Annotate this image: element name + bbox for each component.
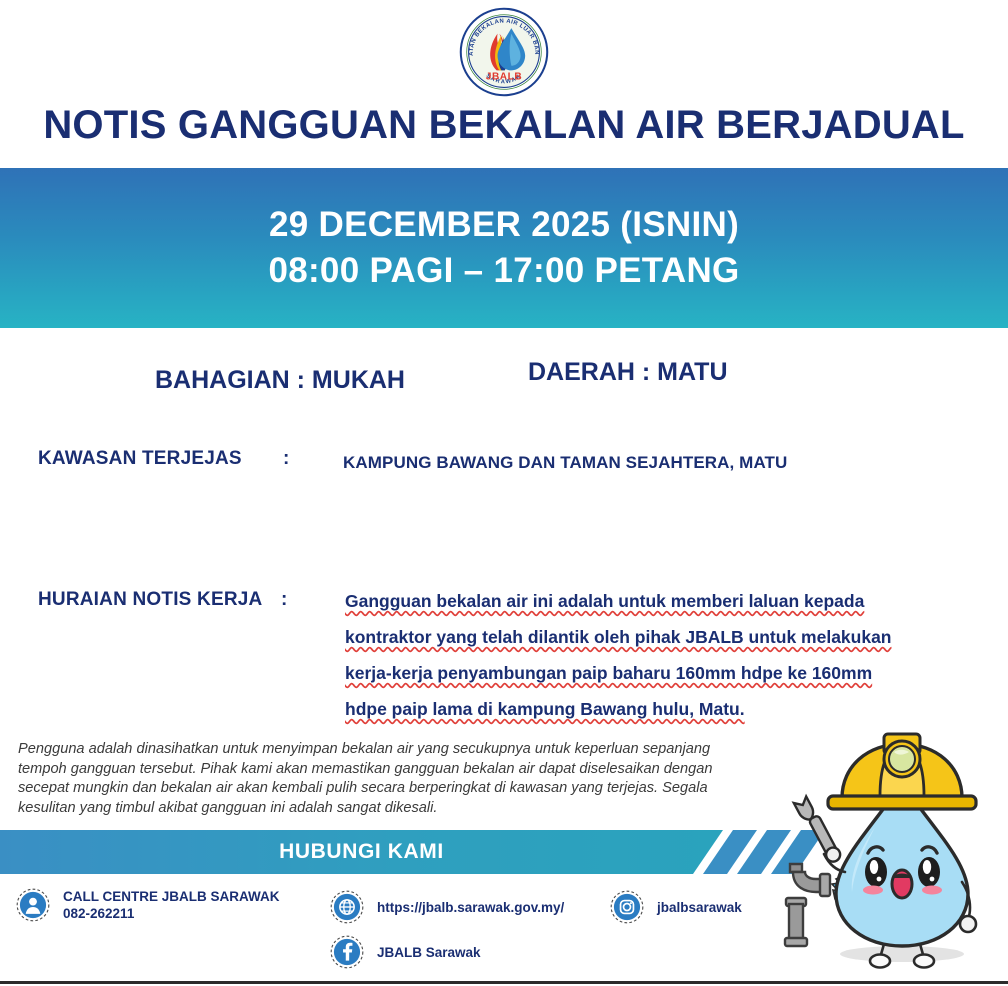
- affected-area-colon: :: [283, 448, 289, 470]
- date-time-banner: 29 DECEMBER 2025 (ISNIN) 08:00 PAGI – 17…: [0, 168, 1008, 328]
- notice-poster: JABATAN BEKALAN AIR LUAR BANDAR SARAWAK …: [0, 0, 1008, 986]
- work-description-line-text: kontraktor yang telah dilantik oleh piha…: [345, 627, 892, 647]
- work-description-line: Gangguan bekalan air ini adalah untuk me…: [345, 583, 905, 619]
- work-description-line: kontraktor yang telah dilantik oleh piha…: [345, 619, 905, 655]
- contact-call-centre[interactable]: CALL CENTRE JBALB SARAWAK 082-262211: [16, 888, 280, 922]
- contact-call-centre-line1: CALL CENTRE JBALB SARAWAK: [63, 888, 280, 905]
- work-description-line-text: hdpe paip lama di kampung Bawang hulu, M…: [345, 699, 745, 719]
- work-description-label: HURAIAN NOTIS KERJA: [38, 589, 262, 611]
- person-icon: [16, 888, 50, 922]
- advisory-paragraph: Pengguna adalah dinasihatkan untuk menyi…: [18, 740, 723, 818]
- hard-hat-icon: [828, 734, 976, 809]
- daerah-label: DAERAH : MATU: [528, 358, 728, 387]
- mascot-illustration: [772, 732, 1008, 972]
- notice-date: 29 DECEMBER 2025 (ISNIN): [269, 202, 739, 248]
- contact-call-centre-line2: 082-262211: [63, 905, 280, 922]
- contact-instagram[interactable]: jbalbsarawak: [610, 890, 742, 924]
- contact-facebook-text: JBALB Sarawak: [377, 944, 481, 961]
- bahagian-label: BAHAGIAN : MUKAH: [155, 366, 405, 395]
- work-description-line: hdpe paip lama di kampung Bawang hulu, M…: [345, 691, 905, 727]
- contact-banner-title: HUBUNGI KAMI: [279, 840, 444, 864]
- contact-call-centre-text: CALL CENTRE JBALB SARAWAK 082-262211: [63, 888, 280, 922]
- affected-area-label: KAWASAN TERJEJAS: [38, 448, 242, 470]
- globe-icon: [330, 890, 364, 924]
- work-description-line-text: kerja-kerja penyambungan paip baharu 160…: [345, 663, 872, 683]
- work-description-line-text: Gangguan bekalan air ini adalah untuk me…: [345, 591, 864, 611]
- work-description-colon: :: [281, 589, 287, 611]
- logo-container: JABATAN BEKALAN AIR LUAR BANDAR SARAWAK …: [0, 6, 1008, 98]
- bottom-divider: [0, 981, 1008, 984]
- work-description-line: kerja-kerja penyambungan paip baharu 160…: [345, 655, 905, 691]
- facebook-icon: [330, 935, 364, 969]
- contact-website-text: https://jbalb.sarawak.gov.my/: [377, 899, 564, 916]
- contact-facebook[interactable]: JBALB Sarawak: [330, 935, 481, 969]
- page-title: NOTIS GANGGUAN BEKALAN AIR BERJADUAL: [0, 103, 1008, 148]
- water-droplet-mascot: [772, 732, 1008, 972]
- instagram-icon: [610, 890, 644, 924]
- contact-website[interactable]: https://jbalb.sarawak.gov.my/: [330, 890, 564, 924]
- svg-text:JBALB: JBALB: [486, 72, 522, 83]
- notice-time: 08:00 PAGI – 17:00 PETANG: [268, 248, 739, 294]
- jbalb-logo-icon: JABATAN BEKALAN AIR LUAR BANDAR SARAWAK …: [458, 6, 550, 98]
- contact-instagram-text: jbalbsarawak: [657, 899, 742, 916]
- affected-area-value: KAMPUNG BAWANG DAN TAMAN SEJAHTERA, MATU: [343, 453, 787, 473]
- work-description-block: Gangguan bekalan air ini adalah untuk me…: [345, 583, 905, 727]
